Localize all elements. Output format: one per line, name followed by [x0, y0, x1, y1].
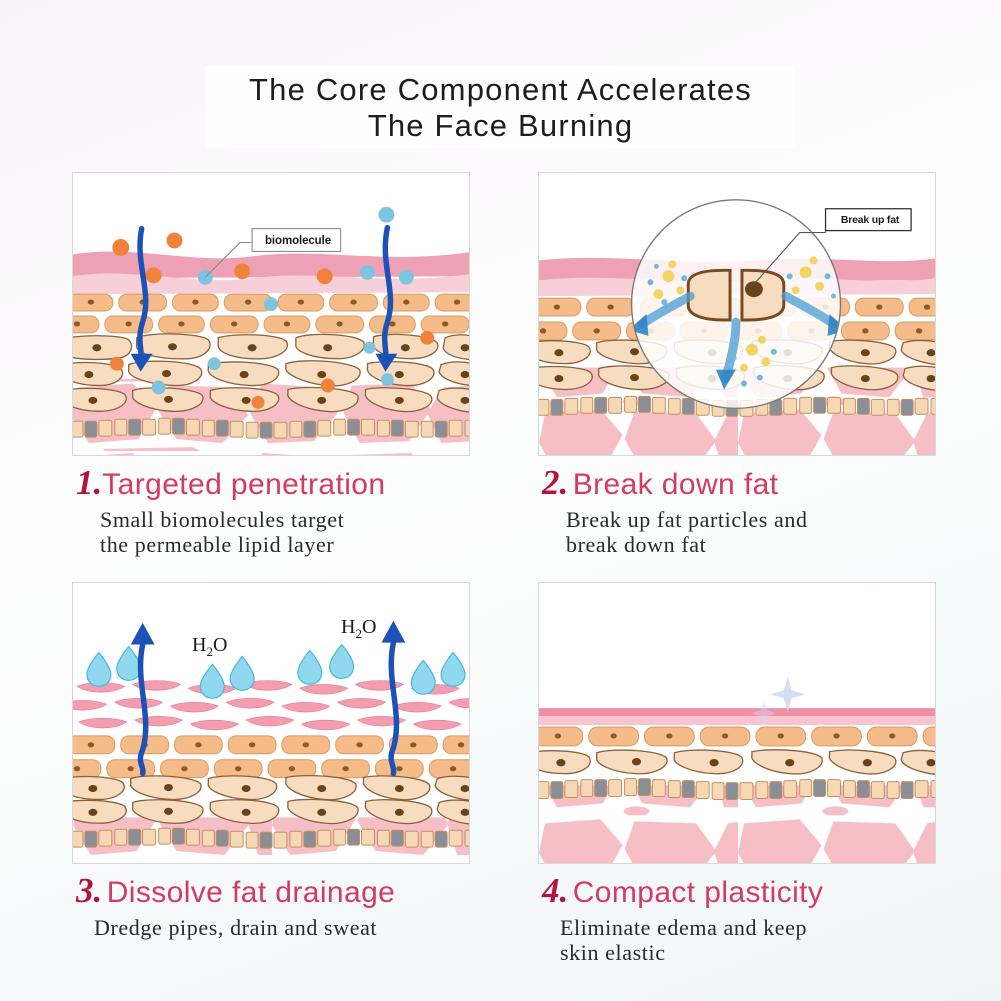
step-heading-3: 3. Dissolve fat drainage: [76, 873, 472, 908]
step-caption-4: 4. Compact plasticity Eliminate edema an…: [538, 864, 938, 965]
compact-skin-diagram: [538, 582, 936, 864]
step-body-2: Break up fat particles and break down fa…: [566, 507, 938, 557]
step-number-1: 1.: [76, 463, 102, 502]
step-number-3: 3.: [76, 871, 102, 910]
skin-penetration-diagram: biomolecule: [72, 172, 470, 456]
title-line-1: The Core Component Accelerates: [0, 72, 1001, 108]
step-heading-4: 4. Compact plasticity: [542, 873, 938, 908]
step-card-4: 4. Compact plasticity Eliminate edema an…: [538, 582, 938, 965]
step-body-1: Small biomolecules target the permeable …: [100, 507, 472, 557]
step-title-4: Compact plasticity: [573, 876, 824, 909]
step-number-2: 2.: [542, 463, 568, 502]
step-title-2: Break down fat: [573, 468, 779, 501]
title-line-2: The Face Burning: [0, 108, 1001, 144]
step-body-3: Dredge pipes, drain and sweat: [94, 915, 472, 940]
step-title-1: Targeted penetration: [102, 468, 385, 501]
step-card-1: biomolecule 1.Targeted penetration Small…: [72, 172, 472, 557]
water-drainage-diagram: H2O H2O: [72, 582, 470, 864]
step-caption-1: 1.Targeted penetration Small biomolecule…: [72, 456, 472, 557]
step-caption-2: 2. Break down fat Break up fat particles…: [538, 456, 938, 557]
break-up-fat-callout-label: Break up fat: [829, 211, 911, 229]
h2o-label-right: H2O: [341, 616, 376, 642]
step-caption-3: 3. Dissolve fat drainage Dredge pipes, d…: [72, 864, 472, 940]
page-title: The Core Component Accelerates The Face …: [0, 72, 1001, 144]
fat-breakdown-magnified-diagram: Break up fat: [538, 172, 936, 456]
step-heading-2: 2. Break down fat: [542, 465, 938, 500]
step-card-3: H2O H2O 3. Dissolve fat drainage Dredge …: [72, 582, 472, 940]
step-body-4: Eliminate edema and keep skin elastic: [560, 915, 938, 965]
h2o-label-left: H2O: [192, 634, 227, 660]
step-heading-1: 1.Targeted penetration: [76, 465, 472, 500]
step-card-2: Break up fat 2. Break down fat Break up …: [538, 172, 938, 557]
biomolecule-callout-label: biomolecule: [258, 232, 338, 250]
step-title-3: Dissolve fat drainage: [107, 876, 396, 909]
step-number-4: 4.: [542, 871, 568, 910]
